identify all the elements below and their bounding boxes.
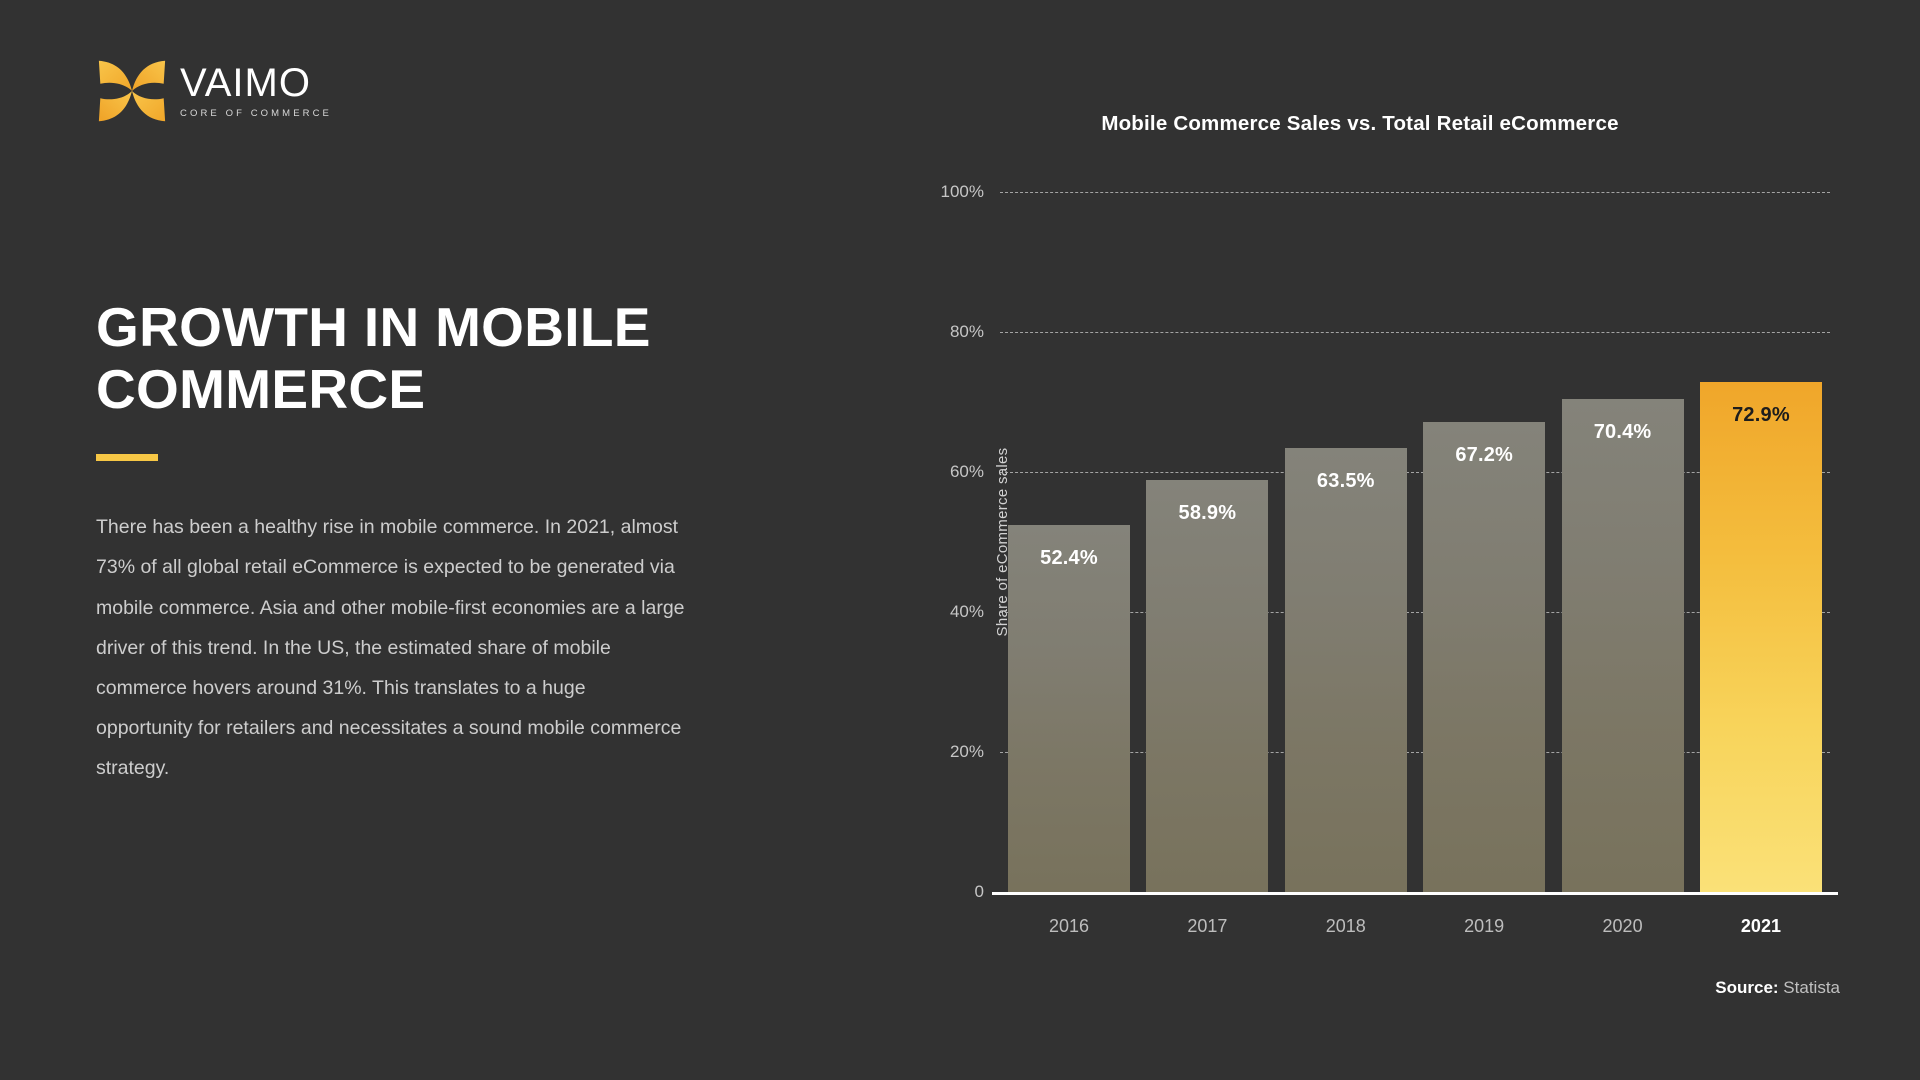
page-title: GROWTH IN MOBILE COMMERCE [96, 296, 696, 420]
left-content: GROWTH IN MOBILE COMMERCE There has been… [96, 296, 696, 788]
bar-slot-2017: 58.9% 2017 [1146, 192, 1268, 892]
bar-slot-2016: 52.4% 2016 [1008, 192, 1130, 892]
y-tick-label-20: 20% [950, 742, 984, 762]
bar-value-2017: 58.9% [1146, 502, 1268, 525]
bar-2019[interactable]: 67.2% 2019 [1423, 422, 1545, 892]
bar-slot-2018: 63.5% 2018 [1285, 192, 1407, 892]
bar-value-2018: 63.5% [1285, 470, 1407, 493]
x-tick-label-2019: 2019 [1423, 916, 1545, 937]
x-tick-label-2020: 2020 [1562, 916, 1684, 937]
vaimo-logo: VAIMO CORE OF COMMERCE [96, 55, 332, 127]
y-tick-label-100: 100% [941, 182, 984, 202]
y-tick-label-60: 60% [950, 462, 984, 482]
bar-value-2016: 52.4% [1008, 547, 1130, 570]
source-label: Source: [1715, 978, 1778, 997]
logo-wordmark: VAIMO [180, 63, 332, 103]
bar-2018[interactable]: 63.5% 2018 [1285, 448, 1407, 893]
y-tick-label-40: 40% [950, 602, 984, 622]
x-tick-label-2016: 2016 [1008, 916, 1130, 937]
source-attribution: Source: Statista [1715, 978, 1840, 998]
x-tick-label-2018: 2018 [1285, 916, 1407, 937]
y-tick-label-0: 0 [975, 882, 984, 902]
bar-2017[interactable]: 58.9% 2017 [1146, 480, 1268, 892]
bar-2021[interactable]: 72.9% 2021 [1700, 382, 1822, 892]
bar-value-2020: 70.4% [1562, 421, 1684, 444]
bar-group: 52.4% 2016 58.9% 2017 63.5% 2018 [1000, 192, 1830, 892]
x-tick-label-2017: 2017 [1146, 916, 1268, 937]
bar-2016[interactable]: 52.4% 2016 [1008, 525, 1130, 892]
chart: Mobile Commerce Sales vs. Total Retail e… [880, 112, 1840, 942]
bar-2020[interactable]: 70.4% 2020 [1562, 399, 1684, 892]
x-tick-label-2021: 2021 [1700, 916, 1822, 937]
source-name: Statista [1783, 978, 1840, 997]
bar-slot-2019: 67.2% 2019 [1423, 192, 1545, 892]
plot-area: Share of eCommerce sales 100% 80% 60% 40… [1000, 192, 1830, 892]
bar-slot-2020: 70.4% 2020 [1562, 192, 1684, 892]
chart-title: Mobile Commerce Sales vs. Total Retail e… [880, 112, 1840, 136]
x-axis-baseline [992, 892, 1838, 895]
vaimo-x-icon [96, 55, 168, 127]
bar-slot-2021: 72.9% 2021 [1700, 192, 1822, 892]
accent-divider [96, 454, 158, 461]
body-paragraph: There has been a healthy rise in mobile … [96, 507, 686, 788]
bar-value-2021: 72.9% [1700, 404, 1822, 427]
slide: VAIMO CORE OF COMMERCE GROWTH IN MOBILE … [0, 0, 1920, 1080]
logo-tagline: CORE OF COMMERCE [180, 108, 332, 119]
bar-value-2019: 67.2% [1423, 444, 1545, 467]
y-tick-label-80: 80% [950, 322, 984, 342]
